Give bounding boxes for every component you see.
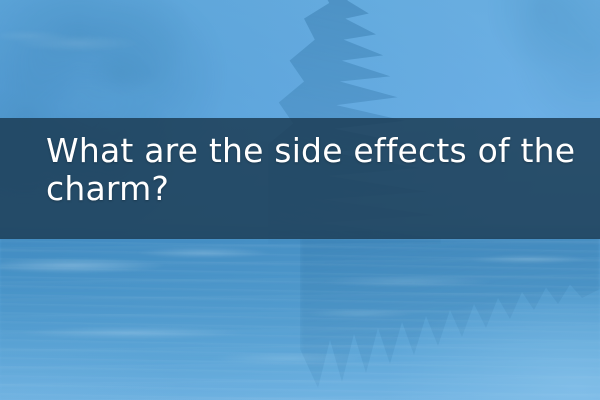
caption-text: What are the side effects of the charm? — [46, 132, 600, 208]
screenshot-canvas: What are the side effects of the charm? — [0, 0, 600, 400]
caption-banner: What are the side effects of the charm? — [0, 118, 600, 239]
